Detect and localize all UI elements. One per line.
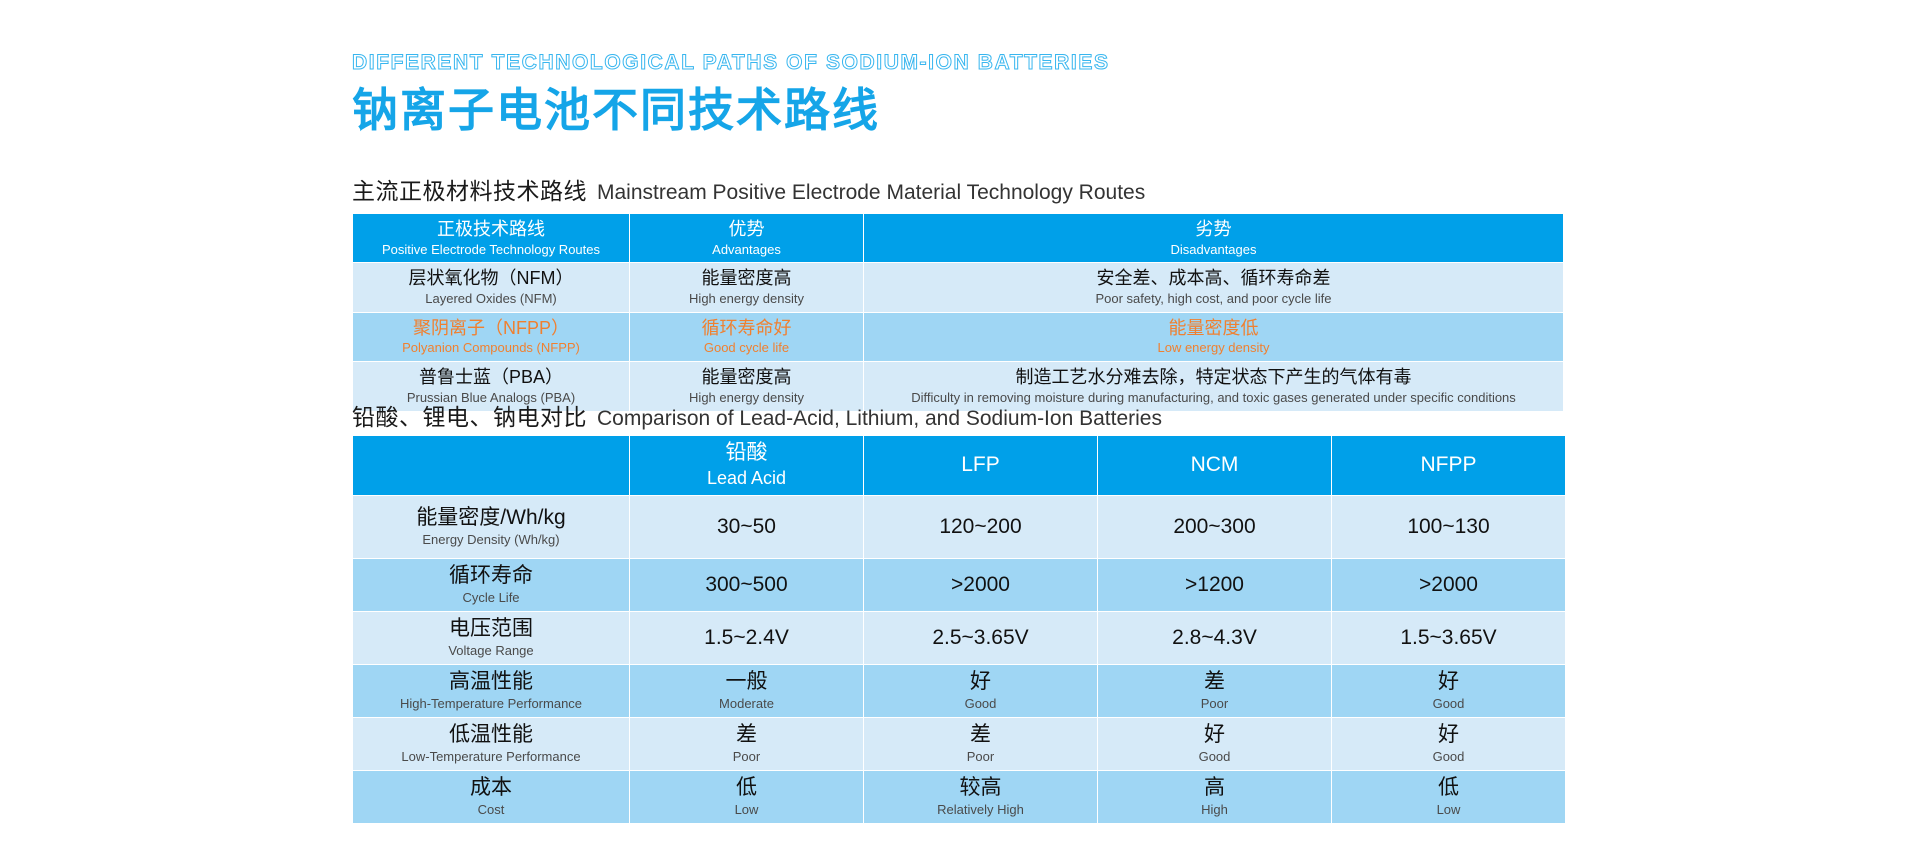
section1-heading-cn: 主流正极材料技术路线: [352, 172, 587, 206]
table2-cell: 100~130: [1332, 496, 1565, 558]
table2-col-ncm: NCM: [1098, 436, 1331, 495]
table2-cell: 1.5~3.65V: [1332, 612, 1565, 664]
table1-col-advantages: 优势 Advantages: [630, 214, 863, 262]
section2-heading: 铅酸、锂电、钠电对比 Comparison of Lead-Acid, Lith…: [352, 398, 1162, 432]
table2-row-label: 能量密度/Wh/kg Energy Density (Wh/kg): [353, 496, 629, 558]
table2-cell: 200~300: [1098, 496, 1331, 558]
table-row: 高温性能 High-Temperature Performance 一般 Mod…: [353, 665, 1565, 717]
table2-cell: 低 Low: [1332, 771, 1565, 823]
table2-cell: >2000: [864, 559, 1097, 611]
section1-heading: 主流正极材料技术路线 Mainstream Positive Electrode…: [352, 172, 1145, 206]
poster-root: DIFFERENT TECHNOLOGICAL PATHS OF SODIUM-…: [0, 0, 1921, 850]
table1-header: 正极技术路线 Positive Electrode Technology Rou…: [353, 214, 1563, 262]
table1-cell: 安全差、成本高、循环寿命差 Poor safety, high cost, an…: [864, 263, 1563, 311]
table1-col-disadvantages-en: Disadvantages: [872, 242, 1555, 259]
table1-cell: 循环寿命好 Good cycle life: [630, 313, 863, 361]
battery-comparison-table: 铅酸 Lead Acid LFP NCM NFPP 能量密度/Wh/kg Ene…: [352, 435, 1566, 824]
table2-cell: 低 Low: [630, 771, 863, 823]
table-row: 低温性能 Low-Temperature Performance 差 Poor …: [353, 718, 1565, 770]
table2-cell: 一般 Moderate: [630, 665, 863, 717]
table2-cell: 好 Good: [1332, 665, 1565, 717]
table1-cell: 层状氧化物（NFM） Layered Oxides (NFM): [353, 263, 629, 311]
table2-col-nfpp: NFPP: [1332, 436, 1565, 495]
table2-cell: 好 Good: [1098, 718, 1331, 770]
page-title: 钠离子电池不同技术路线: [352, 84, 1652, 137]
positive-electrode-table: 正极技术路线 Positive Electrode Technology Rou…: [352, 213, 1564, 412]
table2-row-label: 电压范围 Voltage Range: [353, 612, 629, 664]
table2-cell: 2.8~4.3V: [1098, 612, 1331, 664]
table-row: 循环寿命 Cycle Life 300~500 >2000 >1200 >200…: [353, 559, 1565, 611]
section1-heading-en: Mainstream Positive Electrode Material T…: [597, 181, 1145, 205]
table2-header: 铅酸 Lead Acid LFP NCM NFPP: [353, 436, 1565, 495]
section2-heading-cn: 铅酸、锂电、钠电对比: [352, 398, 587, 432]
table2-cell: 差 Poor: [1098, 665, 1331, 717]
table2-cell: 120~200: [864, 496, 1097, 558]
table1-col-disadvantages: 劣势 Disadvantages: [864, 214, 1563, 262]
table2-col-blank: [353, 436, 629, 495]
table2-cell: 2.5~3.65V: [864, 612, 1097, 664]
table2-cell: 差 Poor: [630, 718, 863, 770]
table2-row-label: 循环寿命 Cycle Life: [353, 559, 629, 611]
table2-row-label: 低温性能 Low-Temperature Performance: [353, 718, 629, 770]
table2-body: 能量密度/Wh/kg Energy Density (Wh/kg) 30~50 …: [353, 496, 1565, 824]
table2-cell: >2000: [1332, 559, 1565, 611]
poster-header: DIFFERENT TECHNOLOGICAL PATHS OF SODIUM-…: [352, 50, 1652, 137]
table2-cell: 较高 Relatively High: [864, 771, 1097, 823]
table1-col-advantages-cn: 优势: [638, 218, 855, 241]
table2-cell: 1.5~2.4V: [630, 612, 863, 664]
table-row: 能量密度/Wh/kg Energy Density (Wh/kg) 30~50 …: [353, 496, 1565, 558]
table1-cell: 能量密度高 High energy density: [630, 263, 863, 311]
table1-body: 层状氧化物（NFM） Layered Oxides (NFM) 能量密度高 Hi…: [353, 263, 1563, 410]
table-row: 层状氧化物（NFM） Layered Oxides (NFM) 能量密度高 Hi…: [353, 263, 1563, 311]
table-row: 成本 Cost 低 Low 较高 Relatively High 高 High …: [353, 771, 1565, 823]
table2-cell: 好 Good: [1332, 718, 1565, 770]
table2-row-label: 高温性能 High-Temperature Performance: [353, 665, 629, 717]
table2-cell: >1200: [1098, 559, 1331, 611]
table-row: 聚阴离子（NFPP） Polyanion Compounds (NFPP) 循环…: [353, 313, 1563, 361]
table2-cell: 差 Poor: [864, 718, 1097, 770]
table2-cell: 300~500: [630, 559, 863, 611]
table1-col-routes-cn: 正极技术路线: [361, 218, 621, 241]
table2-cell: 高 High: [1098, 771, 1331, 823]
table1-cell: 能量密度低 Low energy density: [864, 313, 1563, 361]
table2-cell: 好 Good: [864, 665, 1097, 717]
header-eyebrow: DIFFERENT TECHNOLOGICAL PATHS OF SODIUM-…: [352, 50, 1652, 75]
table2-row-label: 成本 Cost: [353, 771, 629, 823]
table1-col-routes: 正极技术路线 Positive Electrode Technology Rou…: [353, 214, 629, 262]
table2-col-lead-acid: 铅酸 Lead Acid: [630, 436, 863, 495]
table1-cell: 聚阴离子（NFPP） Polyanion Compounds (NFPP): [353, 313, 629, 361]
table-row: 电压范围 Voltage Range 1.5~2.4V 2.5~3.65V 2.…: [353, 612, 1565, 664]
table2-cell: 30~50: [630, 496, 863, 558]
table1-col-disadvantages-cn: 劣势: [872, 218, 1555, 241]
table1-col-routes-en: Positive Electrode Technology Routes: [361, 242, 621, 259]
table2-col-lfp: LFP: [864, 436, 1097, 495]
table2-header-row: 铅酸 Lead Acid LFP NCM NFPP: [353, 436, 1565, 495]
table1-header-row: 正极技术路线 Positive Electrode Technology Rou…: [353, 214, 1563, 262]
section2-heading-en: Comparison of Lead-Acid, Lithium, and So…: [597, 407, 1162, 431]
table1-col-advantages-en: Advantages: [638, 242, 855, 259]
